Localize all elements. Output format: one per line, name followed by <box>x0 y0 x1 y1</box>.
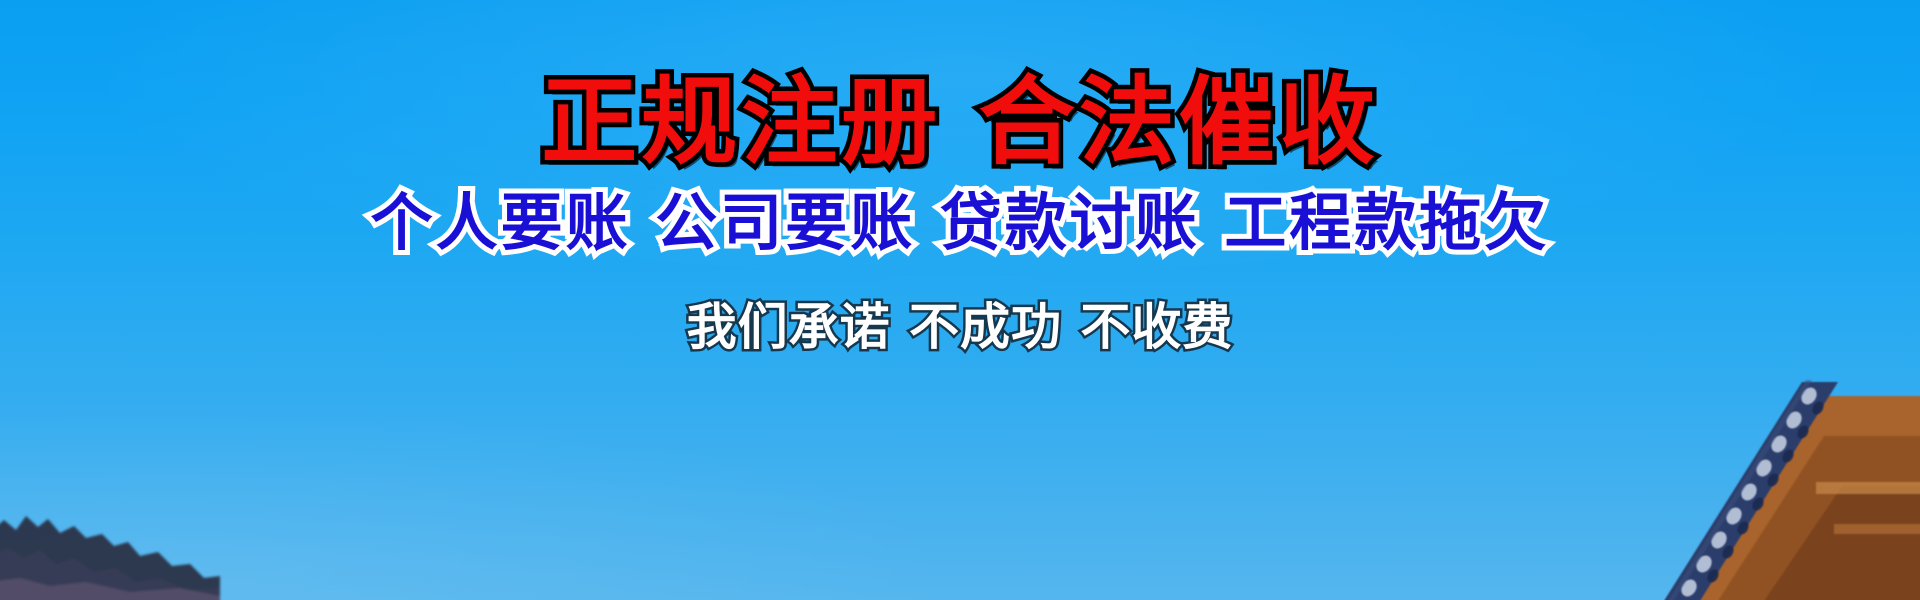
promotional-banner: 正规注册 合法催收 个人要账 公司要账 贷款讨账 工程款拖欠 我们承诺 不成功 … <box>0 0 1920 600</box>
banner-text-stack: 正规注册 合法催收 个人要账 公司要账 贷款讨账 工程款拖欠 我们承诺 不成功 … <box>0 0 1920 600</box>
banner-headline: 正规注册 合法催收 <box>541 74 1378 170</box>
banner-subline: 个人要账 公司要账 贷款讨账 工程款拖欠 <box>371 192 1550 254</box>
banner-tagline: 我们承诺 不成功 不收费 <box>687 302 1234 352</box>
